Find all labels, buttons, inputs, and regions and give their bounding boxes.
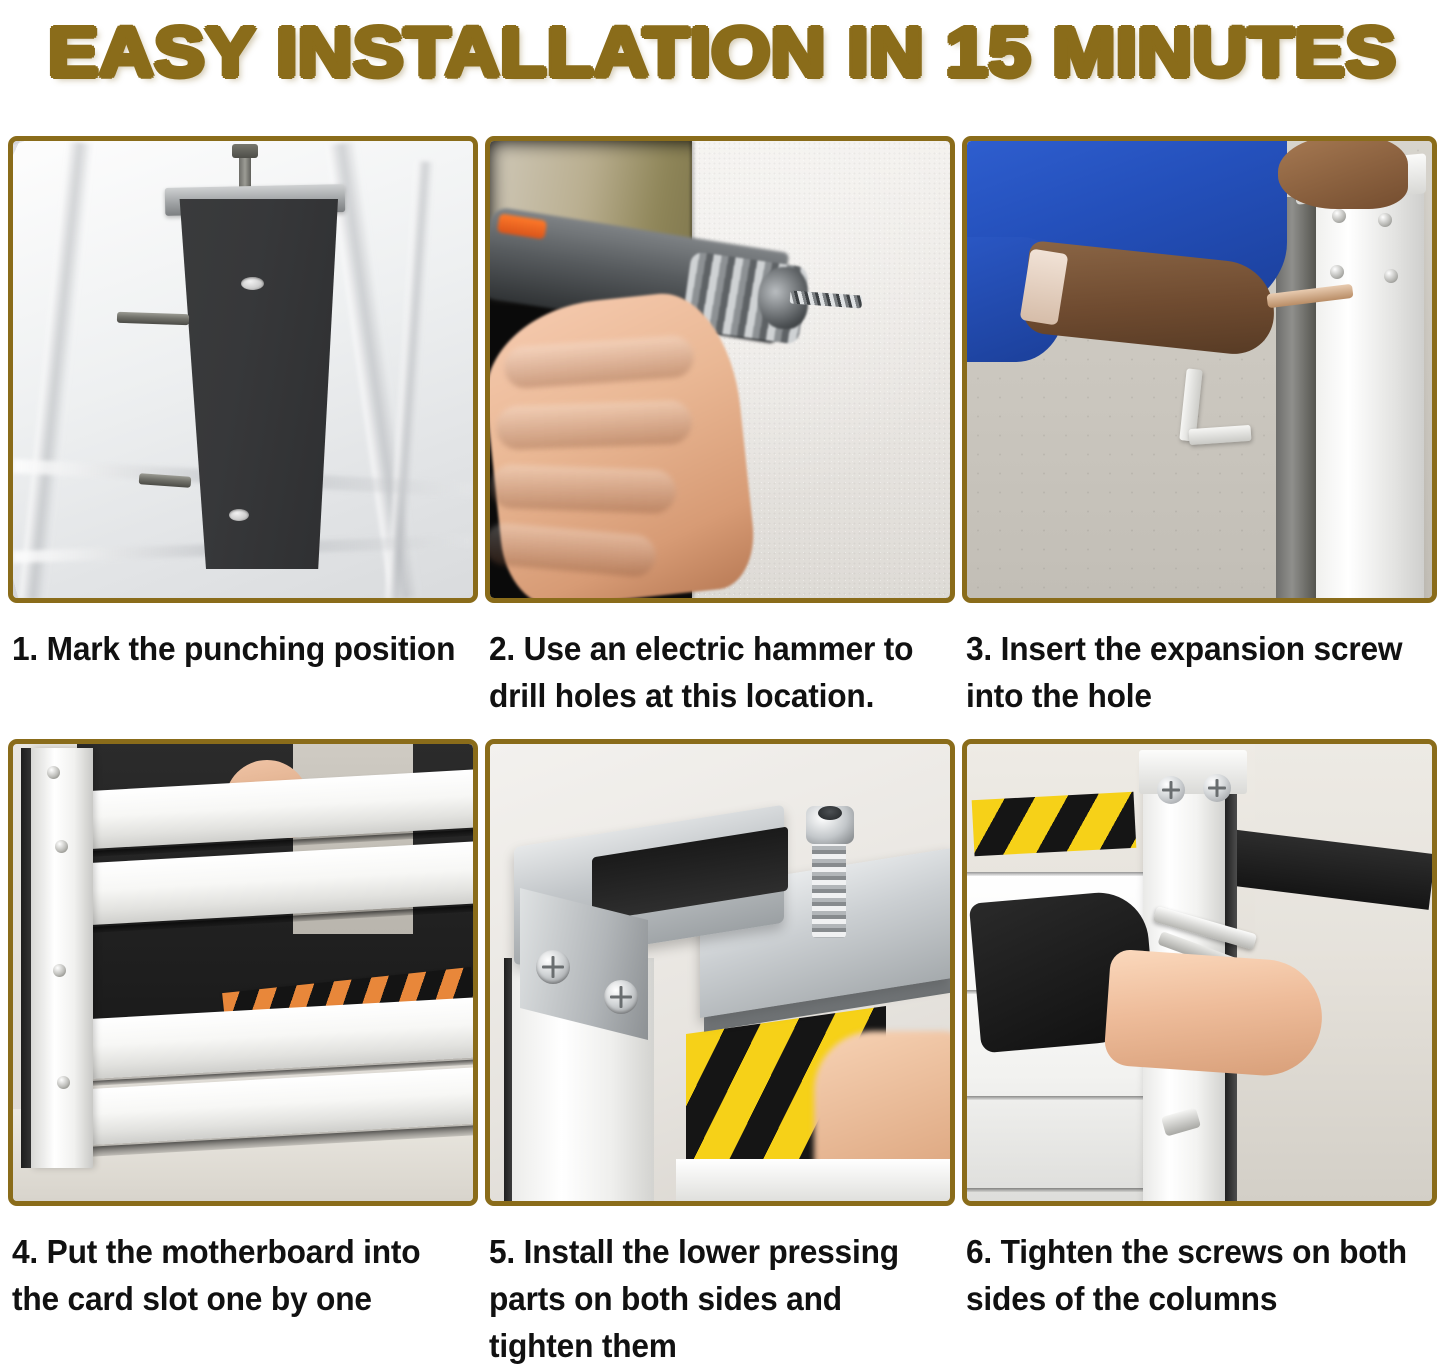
step-photo-frame-3 <box>962 136 1437 603</box>
step-photo-frame-4 <box>8 739 478 1206</box>
step-caption-3: 3. Insert the expansion screw into the h… <box>966 625 1414 719</box>
step-photo-frame-2 <box>485 136 955 603</box>
step-caption-5: 5. Install the lower pressing parts on b… <box>489 1228 933 1369</box>
step-photo-4 <box>13 744 473 1201</box>
step-caption-2: 2. Use an electric hammer to drill holes… <box>489 625 933 719</box>
title-banner: EASY INSTALLATION IN 15 MINUTES <box>0 0 1445 104</box>
step-card-6: 6. Tighten the screws on both sides of t… <box>962 739 1437 1369</box>
step-photo-1 <box>13 141 473 598</box>
step-photo-frame-6 <box>962 739 1437 1206</box>
page-title: EASY INSTALLATION IN 15 MINUTES <box>48 16 1396 88</box>
step-card-3: 3. Insert the expansion screw into the h… <box>962 136 1437 719</box>
step-photo-6 <box>967 744 1432 1201</box>
step-photo-frame-5 <box>485 739 955 1206</box>
step-card-4: 4. Put the motherboard into the card slo… <box>8 739 478 1369</box>
step-photo-2 <box>490 141 950 598</box>
step-photo-3 <box>967 141 1432 598</box>
step-card-2: 2. Use an electric hammer to drill holes… <box>485 136 955 719</box>
step-card-1: 1. Mark the punching position <box>8 136 478 719</box>
step-photo-5 <box>490 744 950 1201</box>
grid-row-gap <box>8 719 1437 739</box>
steps-grid: 1. Mark the punching position <box>8 136 1437 1369</box>
infographic-sheet: EASY INSTALLATION IN 15 MINUTES <box>0 0 1445 1352</box>
step-caption-1: 1. Mark the punching position <box>12 625 456 672</box>
step-card-5: 5. Install the lower pressing parts on b… <box>485 739 955 1369</box>
step-caption-4: 4. Put the motherboard into the card slo… <box>12 1228 456 1322</box>
step-caption-6: 6. Tighten the screws on both sides of t… <box>966 1228 1414 1322</box>
step-photo-frame-1 <box>8 136 478 603</box>
